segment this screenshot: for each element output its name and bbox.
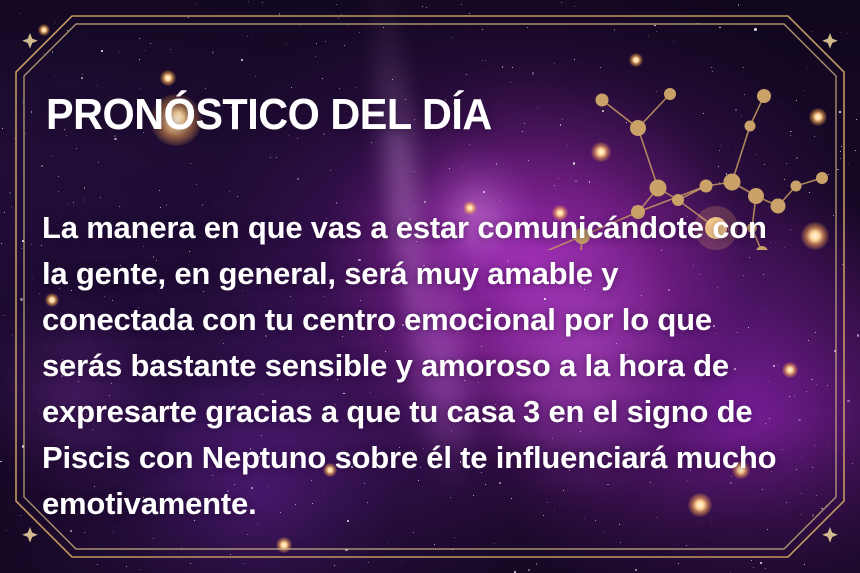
horoscope-card: PRONÓSTICO DEL DÍA La manera en que vas … xyxy=(0,0,860,573)
forecast-line: expresarte gracias a que tu casa 3 en el… xyxy=(42,389,832,435)
forecast-line: la gente, en general, será muy amable y xyxy=(42,251,832,297)
forecast-line: serás bastante sensible y amoroso a la h… xyxy=(42,343,832,389)
forecast-text: La manera en que vas a estar comunicándo… xyxy=(42,205,832,527)
forecast-line: La manera en que vas a estar comunicándo… xyxy=(42,205,832,251)
page-title: PRONÓSTICO DEL DÍA xyxy=(46,93,492,137)
forecast-line: Piscis con Neptuno sobre él te influenci… xyxy=(42,435,832,481)
forecast-line: emotivamente. xyxy=(42,481,832,527)
forecast-line: conectada con tu centro emocional por lo… xyxy=(42,297,832,343)
